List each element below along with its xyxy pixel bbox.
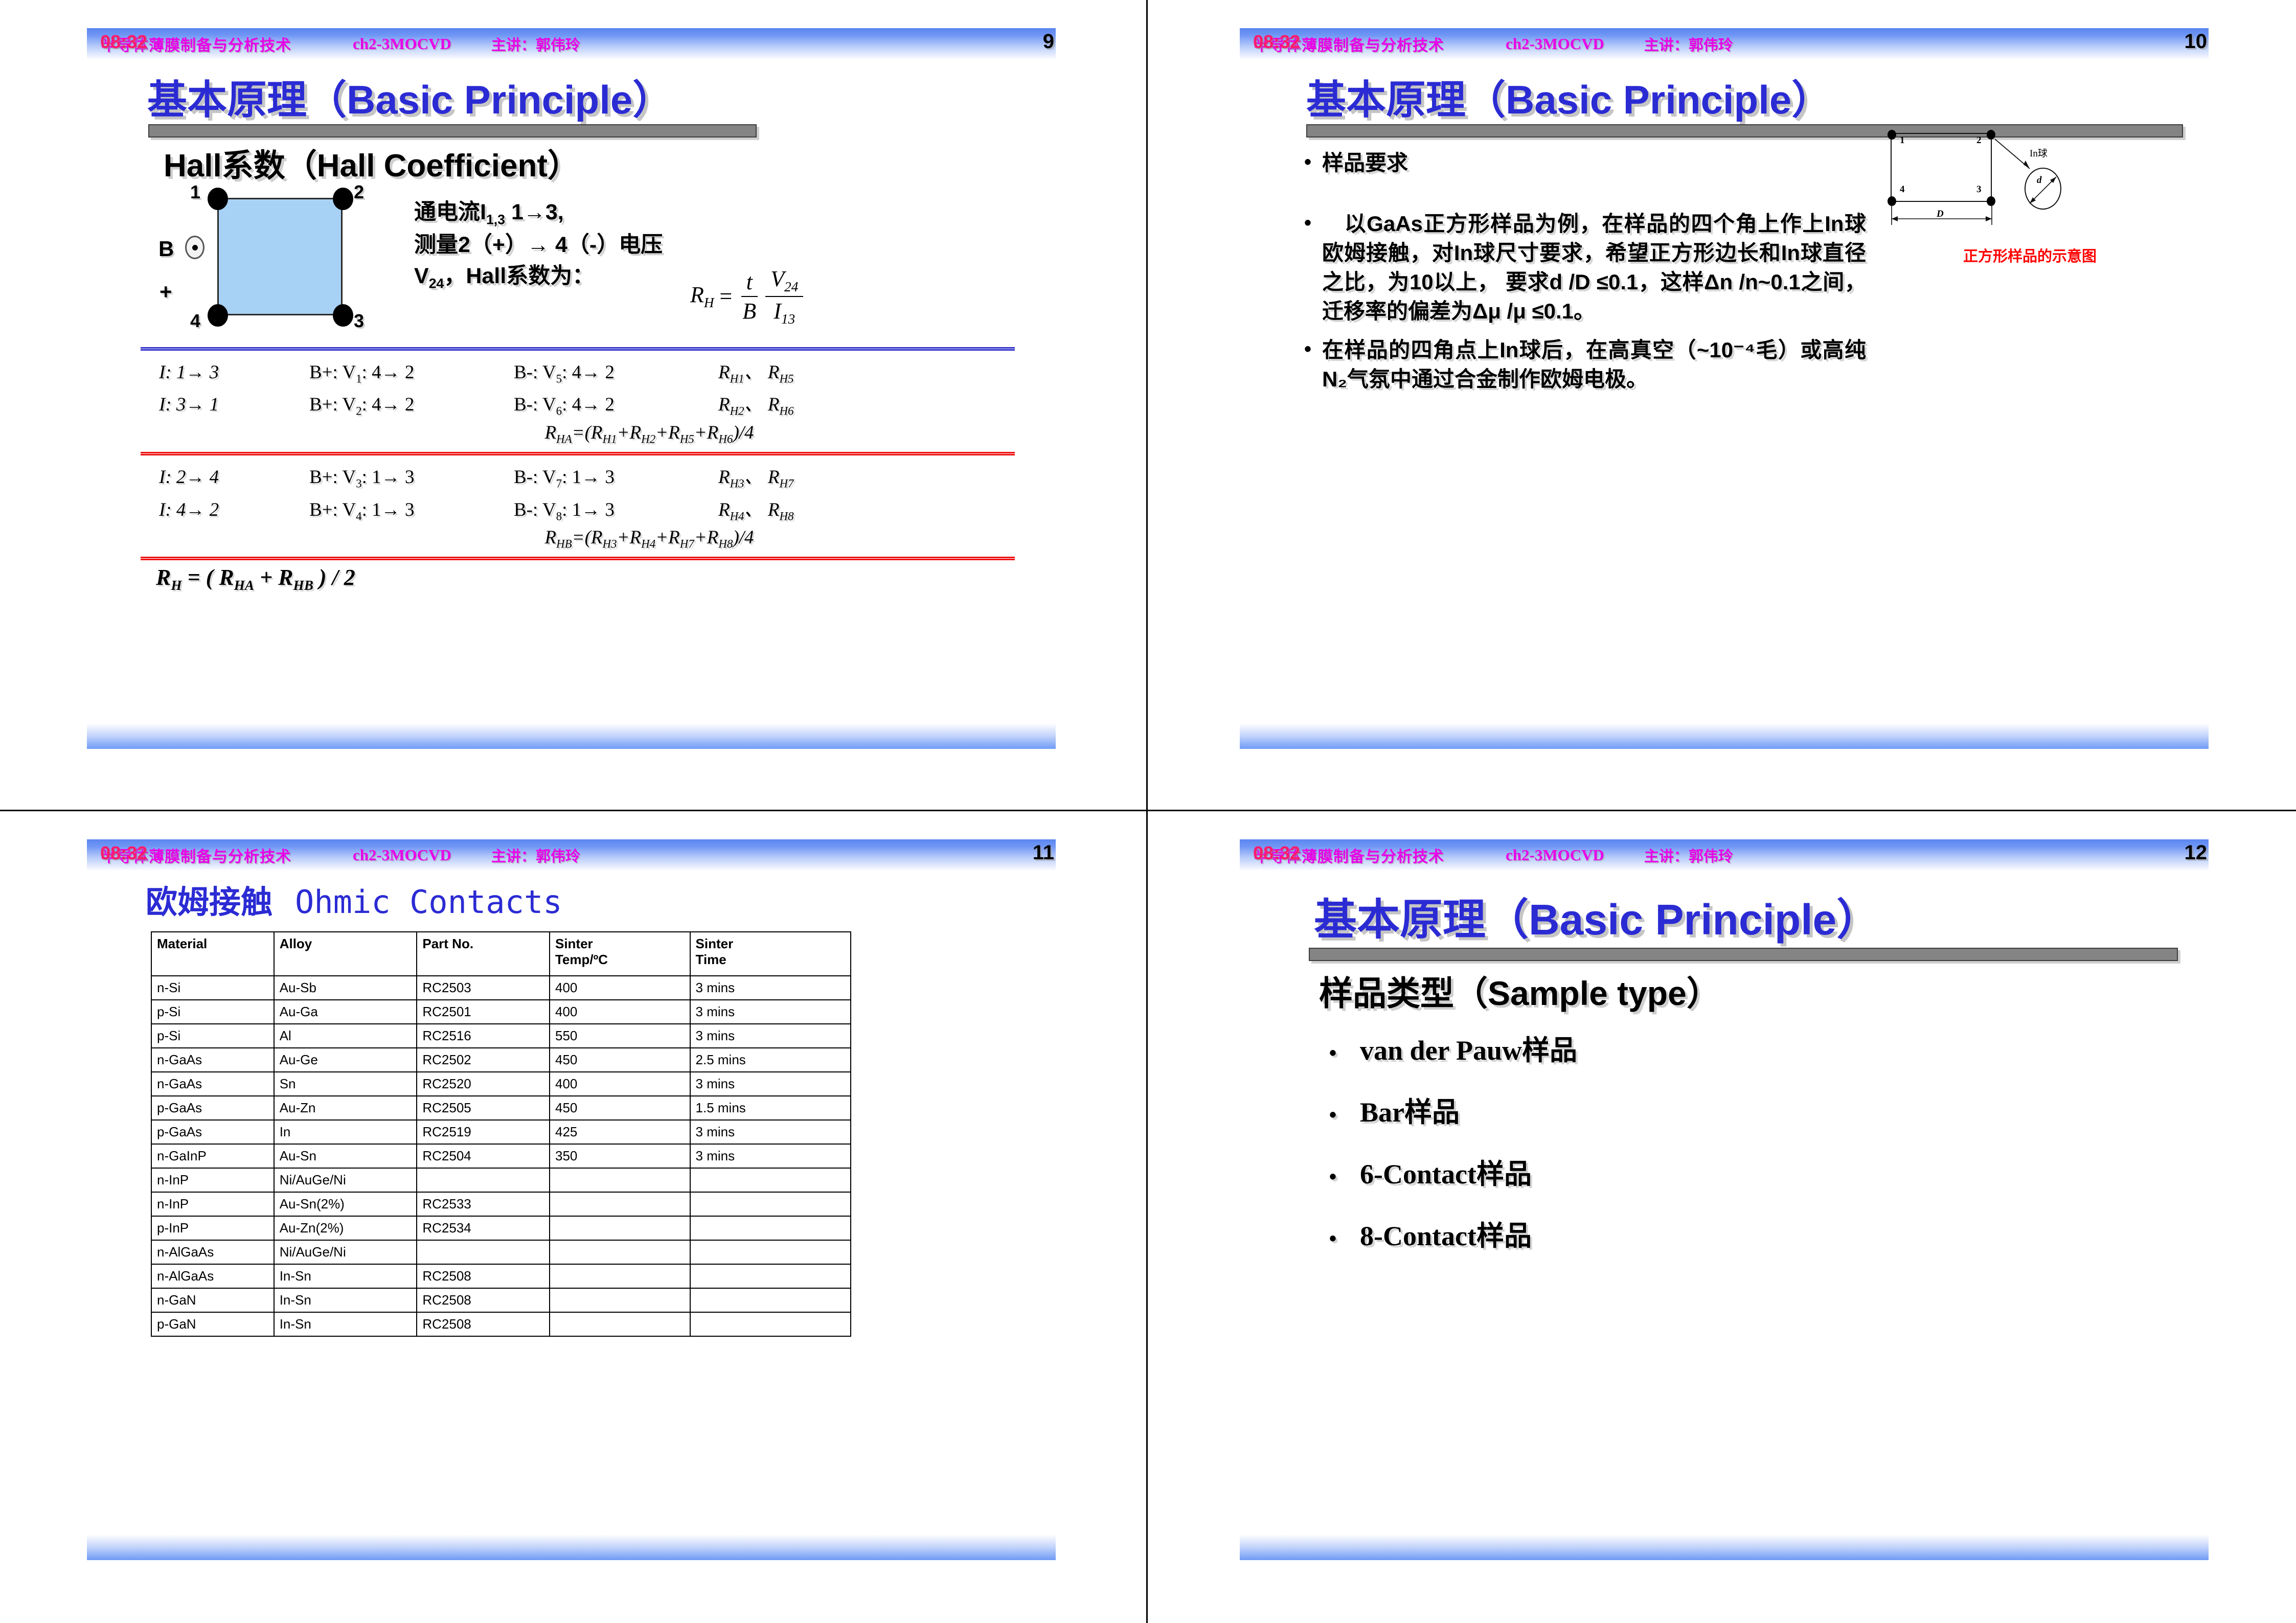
page-title: 基本原理（Basic Principle） — [147, 68, 672, 125]
contact-dot-1 — [208, 188, 228, 210]
cell-alloy: Au-Ga — [274, 1000, 417, 1024]
list-item-label: 样品要求 — [1322, 148, 1866, 177]
cell-part-no: RC2533 — [417, 1192, 550, 1216]
formula-fraction-1: t B — [737, 269, 761, 324]
header-chapter: ch2-3MOCVD — [353, 35, 451, 53]
cell-sinter-temp: 400 — [550, 976, 690, 1000]
cell-sinter-temp: 400 — [550, 1072, 690, 1096]
cell-result: RH1、 RH5 — [718, 356, 923, 385]
slide-footer-12 — [1240, 1527, 2209, 1560]
cell-current: I: 4→ 2 — [141, 499, 309, 521]
footer-page-number: 10 — [2185, 30, 2208, 53]
cell-part-no: RC2519 — [417, 1120, 550, 1144]
cell-material: p-GaN — [151, 1312, 274, 1336]
contact-label-4: 4 — [190, 310, 200, 332]
sample-requirements-list: • 样品要求 • 以GaAs正方形样品为例，在样品的四个角上作上In球欧姆接触，… — [1293, 148, 1866, 403]
cell-alloy: In — [274, 1120, 417, 1144]
cell-sinter-time: 3 mins — [690, 1000, 851, 1024]
cell-sinter-temp: 350 — [550, 1144, 690, 1168]
page-title: 基本原理（Basic Principle） — [1314, 885, 1879, 947]
header-chapter: ch2-3MOCVD — [1506, 35, 1604, 53]
table-row: I: 3→ 1 B+: V2: 4→ 2 B-: V6: 4→ 2 RH2、 R… — [141, 387, 1015, 419]
cell-alloy: Au-Sn — [274, 1144, 417, 1168]
slide-deck: 半导体薄膜制备与分析技术 ch2-3MOCVD 主讲：郭伟玲 基本原理（Basi… — [0, 0, 2296, 1623]
sample-body-rect — [217, 198, 343, 315]
cell-part-no: RC2504 — [417, 1144, 550, 1168]
cell-alloy: Au-Sb — [274, 976, 417, 1000]
header-lecturer: 主讲：郭伟玲 — [491, 33, 580, 55]
slide-header-11: 半导体薄膜制备与分析技术 ch2-3MOCVD 主讲：郭伟玲 — [87, 839, 1056, 871]
cell-sinter-temp — [550, 1264, 690, 1288]
list-item: • 在样品的四角点上In球后，在高真空（~10⁻⁴毛）或高纯N₂气氛中通过合金制… — [1293, 335, 1866, 394]
cell-bminus: B-: V6: 4→ 2 — [514, 394, 718, 418]
cell-sinter-time — [690, 1168, 851, 1192]
cell-result: RH4、 RH8 — [718, 494, 923, 523]
table-row: I: 1→ 3 B+: V1: 4→ 2 B-: V5: 4→ 2 RH1、 R… — [141, 355, 1015, 387]
column-header-sinter-temp: Sinter Temp/ºC — [550, 932, 690, 976]
table-row: p-GaAsAu-ZnRC25054501.5 mins — [151, 1096, 851, 1120]
cell-material: p-GaAs — [151, 1096, 274, 1120]
figure-width-label: D — [1937, 209, 1944, 220]
square-sample-figure: 1 2 3 4 D d I — [1876, 128, 2193, 261]
cell-alloy: In-Sn — [274, 1288, 417, 1312]
header-lecturer: 主讲：郭伟玲 — [491, 844, 580, 866]
slide-10: 半导体薄膜制备与分析技术 ch2-3MOCVD 主讲：郭伟玲 基本原理（Basi… — [1240, 28, 2221, 749]
bullet-dot-icon: • — [1329, 1227, 1360, 1250]
table-row: I: 4→ 2 B+: V4: 1→ 3 B-: V8: 1→ 3 RH4、 R… — [141, 492, 1015, 524]
cell-bminus: B-: V5: 4→ 2 — [514, 361, 718, 385]
cell-sinter-time: 3 mins — [690, 1120, 851, 1144]
cell-sinter-time: 3 mins — [690, 1024, 851, 1048]
table-header-row: Material Alloy Part No. Sinter Temp/ºC S… — [151, 932, 851, 976]
cell-bplus: B+: V3: 1→ 3 — [309, 466, 514, 490]
magnetic-field-label: B — [158, 237, 174, 261]
cell-part-no: RC2503 — [417, 976, 550, 1000]
cell-material: p-GaAs — [151, 1120, 274, 1144]
slide-header-12: 半导体薄膜制备与分析技术 ch2-3MOCVD 主讲：郭伟玲 — [1240, 839, 2209, 871]
cell-result: RH2、 RH6 — [718, 388, 923, 418]
slide-cell-10: 半导体薄膜制备与分析技术 ch2-3MOCVD 主讲：郭伟玲 基本原理（Basi… — [1148, 0, 2296, 811]
cell-material: p-Si — [151, 1000, 274, 1024]
cell-material: n-AlGaAs — [151, 1240, 274, 1264]
cell-alloy: Au-Zn(2%) — [274, 1216, 417, 1240]
cell-part-no: RC2502 — [417, 1048, 550, 1072]
header-chapter: ch2-3MOCVD — [1506, 846, 1604, 864]
bullet-dot-icon: • — [1329, 1104, 1360, 1127]
bullet-dot-icon: • — [1293, 209, 1322, 326]
contact-dot-3 — [333, 304, 353, 327]
list-item: • 样品要求 — [1293, 148, 1866, 177]
cell-alloy: Ni/AuGe/Ni — [274, 1168, 417, 1192]
formula-lhs: RH — [690, 282, 714, 311]
cell-bminus: B-: V7: 1→ 3 — [514, 466, 718, 490]
section-subtitle: 样品类型（Sample type） — [1319, 966, 1720, 1015]
cell-part-no — [417, 1168, 550, 1192]
table-separator-red — [141, 557, 1015, 560]
table-row: n-AlGaAsIn-SnRC2508 — [151, 1264, 851, 1288]
cell-part-no: RC2520 — [417, 1072, 550, 1096]
list-item: •8-Contact样品 — [1329, 1213, 2045, 1253]
contact-label-3: 3 — [354, 310, 364, 332]
table-row: p-SiAlRC25165503 mins — [151, 1024, 851, 1048]
table-row: n-SiAu-SbRC25034003 mins — [151, 976, 851, 1000]
cell-alloy: Au-Sn(2%) — [274, 1192, 417, 1216]
table-row: p-InPAu-Zn(2%)RC2534 — [151, 1216, 851, 1240]
cell-alloy: Sn — [274, 1072, 417, 1096]
list-item: •Bar样品 — [1329, 1089, 2045, 1130]
desc-line-2: 测量2（+）→ 4（-）电压 — [414, 230, 741, 261]
column-header-material: Material — [151, 932, 274, 976]
cell-sinter-temp — [550, 1312, 690, 1336]
footer-time: 08:32 — [100, 31, 147, 53]
table-separator-red — [141, 452, 1015, 455]
cell-part-no: RC2534 — [417, 1216, 550, 1240]
slide-header-10: 半导体薄膜制备与分析技术 ch2-3MOCVD 主讲：郭伟玲 — [1240, 28, 2209, 60]
title-underline-bar — [148, 124, 757, 138]
table-row: n-InPAu-Sn(2%)RC2533 — [151, 1192, 851, 1216]
cell-material: n-GaAs — [151, 1048, 274, 1072]
cell-sinter-temp: 550 — [550, 1024, 690, 1048]
footer-page-number: 9 — [1043, 30, 1054, 53]
cell-sinter-time: 3 mins — [690, 1072, 851, 1096]
cell-alloy: In-Sn — [274, 1264, 417, 1288]
in-ball-circle-icon — [2025, 168, 2061, 210]
cell-bminus: B-: V8: 1→ 3 — [514, 499, 718, 523]
cell-material: n-GaAs — [151, 1072, 274, 1096]
cell-part-no — [417, 1240, 550, 1264]
cell-sinter-time: 3 mins — [690, 1144, 851, 1168]
bullet-dot-icon: • — [1329, 1042, 1360, 1065]
slide-11: 半导体薄膜制备与分析技术 ch2-3MOCVD 主讲：郭伟玲 欧姆接触Ohmic… — [87, 839, 1069, 1560]
cell-sinter-temp: 450 — [550, 1096, 690, 1120]
page-title-cn: 欧姆接触 — [146, 885, 272, 920]
section-subtitle: Hall系数（Hall Coefficient） — [164, 140, 579, 186]
cell-sinter-temp — [550, 1240, 690, 1264]
cell-sinter-temp: 425 — [550, 1120, 690, 1144]
list-item-label: 以GaAs正方形样品为例，在样品的四个角上作上In球欧姆接触，对In球尺寸要求，… — [1322, 209, 1866, 326]
table-row: p-GaNIn-SnRC2508 — [151, 1312, 851, 1336]
footer-time: 08:32 — [1253, 842, 1300, 864]
desc-line-1: 通电流I1,3 1→3, — [414, 197, 741, 230]
table-row: n-GaNIn-SnRC2508 — [151, 1288, 851, 1312]
bullet-dot-icon: • — [1293, 148, 1322, 177]
rha-average-formula: RHA=(RH1+RH2+RH5+RH6)/4 — [141, 420, 1015, 448]
cell-material: n-AlGaAs — [151, 1264, 274, 1288]
cell-part-no: RC2516 — [417, 1024, 550, 1048]
contact-label-2: 2 — [354, 181, 364, 203]
cell-part-no: RC2505 — [417, 1096, 550, 1120]
hall-sample-diagram: 1 2 3 4 B + — [189, 187, 409, 335]
bullet-dot-icon: • — [1329, 1165, 1360, 1188]
header-lecturer: 主讲：郭伟玲 — [1644, 844, 1733, 866]
cell-material: n-InP — [151, 1192, 274, 1216]
contact-label-1: 1 — [190, 181, 200, 203]
list-item-label: 6-Contact样品 — [1360, 1151, 1532, 1192]
list-item: •van der Pauw样品 — [1329, 1027, 2045, 1068]
column-header-sinter-time: Sinter Time — [690, 932, 851, 976]
cell-material: p-Si — [151, 1024, 274, 1048]
table-row: n-AlGaAsNi/AuGe/Ni — [151, 1240, 851, 1264]
slide-12: 半导体薄膜制备与分析技术 ch2-3MOCVD 主讲：郭伟玲 基本原理（Basi… — [1240, 839, 2221, 1560]
cell-current: I: 3→ 1 — [141, 394, 309, 416]
cell-sinter-time: 1.5 mins — [690, 1096, 851, 1120]
cell-material: n-Si — [151, 976, 274, 1000]
bullet-dot-icon: • — [1293, 335, 1322, 394]
hall-coefficient-formula: RH = t B V24 I13 — [690, 266, 803, 327]
slide-footer-10 — [1240, 716, 2209, 749]
cell-sinter-time — [690, 1264, 851, 1288]
contact-dot-4 — [208, 304, 228, 327]
list-item: • 以GaAs正方形样品为例，在样品的四个角上作上In球欧姆接触，对In球尺寸要… — [1293, 209, 1866, 326]
table-row: I: 2→ 4 B+: V3: 1→ 3 B-: V7: 1→ 3 RH3、 R… — [141, 460, 1015, 492]
cell-sinter-time — [690, 1312, 851, 1336]
cell-part-no: RC2508 — [417, 1264, 550, 1288]
cell-sinter-temp — [550, 1192, 690, 1216]
slide-cell-12: 半导体薄膜制备与分析技术 ch2-3MOCVD 主讲：郭伟玲 基本原理（Basi… — [1148, 811, 2296, 1623]
cell-bplus: B+: V1: 4→ 2 — [309, 361, 514, 385]
slide-footer-9 — [87, 716, 1056, 749]
cell-alloy: Ni/AuGe/Ni — [274, 1240, 417, 1264]
cell-alloy: Au-Ge — [274, 1048, 417, 1072]
cell-sinter-temp — [550, 1168, 690, 1192]
cell-result: RH3、 RH7 — [718, 461, 923, 490]
table-row: p-GaAsInRC25194253 mins — [151, 1120, 851, 1144]
column-header-part-no: Part No. — [417, 932, 550, 976]
slide-footer-11 — [87, 1527, 1056, 1560]
page-title-en: Ohmic Contacts — [295, 883, 562, 921]
slide-cell-11: 半导体薄膜制备与分析技术 ch2-3MOCVD 主讲：郭伟玲 欧姆接触Ohmic… — [0, 811, 1148, 1623]
table-row: n-GaInPAu-SnRC25043503 mins — [151, 1144, 851, 1168]
cell-sinter-temp: 400 — [550, 1000, 690, 1024]
cell-part-no: RC2508 — [417, 1288, 550, 1312]
cell-current: I: 2→ 4 — [141, 466, 309, 488]
slide-header-9: 半导体薄膜制备与分析技术 ch2-3MOCVD 主讲：郭伟玲 — [87, 28, 1056, 60]
footer-time: 08:32 — [100, 842, 147, 864]
formula-fraction-2: V24 I13 — [765, 266, 803, 327]
cell-part-no: RC2501 — [417, 1000, 550, 1024]
cell-part-no: RC2508 — [417, 1312, 550, 1336]
cell-material: n-GaInP — [151, 1144, 274, 1168]
formula-equals: = — [718, 283, 734, 309]
slide-9: 半导体薄膜制备与分析技术 ch2-3MOCVD 主讲：郭伟玲 基本原理（Basi… — [87, 28, 1069, 749]
cell-sinter-temp: 450 — [550, 1048, 690, 1072]
table-separator-blue — [141, 347, 1015, 351]
hall-measurement-table: I: 1→ 3 B+: V1: 4→ 2 B-: V5: 4→ 2 RH1、 R… — [141, 345, 1015, 593]
table-row: p-SiAu-GaRC25014003 mins — [151, 1000, 851, 1024]
figure-diameter-label: d — [2037, 175, 2042, 186]
column-header-alloy: Alloy — [274, 932, 417, 976]
field-out-of-page-icon — [185, 236, 204, 259]
table-row: n-InPNi/AuGe/Ni — [151, 1168, 851, 1192]
cell-alloy: In-Sn — [274, 1312, 417, 1336]
footer-page-number: 12 — [2185, 841, 2208, 864]
table-row: n-GaAsSnRC25204003 mins — [151, 1072, 851, 1096]
cell-sinter-time: 3 mins — [690, 976, 851, 1000]
polarity-label: + — [160, 280, 172, 304]
cell-material: p-InP — [151, 1216, 274, 1240]
list-item-label: 在样品的四角点上In球后，在高真空（~10⁻⁴毛）或高纯N₂气氛中通过合金制作欧… — [1322, 335, 1866, 394]
header-chapter: ch2-3MOCVD — [353, 846, 451, 864]
cell-sinter-temp — [550, 1216, 690, 1240]
cell-sinter-time — [690, 1192, 851, 1216]
list-item-label: 8-Contact样品 — [1360, 1213, 1532, 1253]
rh-final-formula: RH = ( RHA + RHB ) / 2 — [141, 564, 1015, 593]
footer-page-number: 11 — [1033, 841, 1054, 864]
rhb-average-formula: RHB=(RH3+RH4+RH7+RH8)/4 — [141, 524, 1015, 553]
cell-alloy: Al — [274, 1024, 417, 1048]
list-item: •6-Contact样品 — [1329, 1151, 2045, 1192]
page-title: 基本原理（Basic Principle） — [1306, 68, 1831, 125]
contact-dot-2 — [333, 188, 353, 210]
ohmic-contacts-table: Material Alloy Part No. Sinter Temp/ºC S… — [151, 931, 851, 1337]
title-underline-bar — [1309, 948, 2178, 961]
cell-sinter-time — [690, 1216, 851, 1240]
cell-sinter-temp — [550, 1288, 690, 1312]
header-lecturer: 主讲：郭伟玲 — [1644, 33, 1733, 55]
cell-bplus: B+: V2: 4→ 2 — [309, 394, 514, 418]
cell-sinter-time: 2.5 mins — [690, 1048, 851, 1072]
cell-current: I: 1→ 3 — [141, 361, 309, 383]
list-item-label: van der Pauw样品 — [1360, 1027, 1577, 1068]
cell-bplus: B+: V4: 1→ 3 — [309, 499, 514, 523]
sample-type-list: •van der Pauw样品•Bar样品•6-Contact样品•8-Cont… — [1329, 1027, 2045, 1275]
cell-sinter-time — [690, 1288, 851, 1312]
page-title: 欧姆接触Ohmic Contacts — [146, 876, 562, 922]
cell-alloy: Au-Zn — [274, 1096, 417, 1120]
in-ball-label: In球 — [2030, 146, 2048, 159]
slide-cell-9: 半导体薄膜制备与分析技术 ch2-3MOCVD 主讲：郭伟玲 基本原理（Basi… — [0, 0, 1148, 811]
footer-time: 08:32 — [1253, 31, 1300, 53]
list-item-label: Bar样品 — [1360, 1089, 1460, 1130]
table-row: n-GaAsAu-GeRC25024502.5 mins — [151, 1048, 851, 1072]
cell-material: n-GaN — [151, 1288, 274, 1312]
cell-sinter-time — [690, 1240, 851, 1264]
cell-material: n-InP — [151, 1168, 274, 1192]
figure-caption: 正方形样品的示意图 — [1963, 244, 2097, 266]
